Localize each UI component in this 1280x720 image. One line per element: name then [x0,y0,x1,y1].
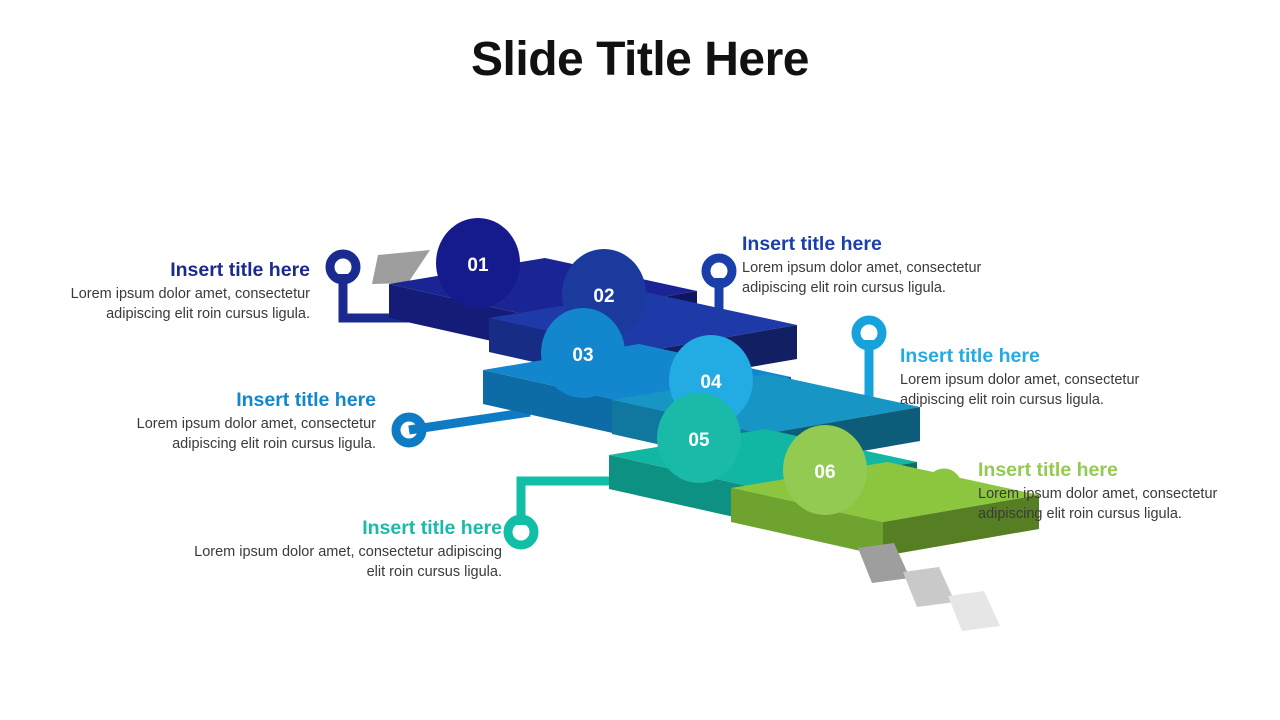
step-badge-6-label: 06 [814,462,835,483]
step-badge-1[interactable]: 01 [436,218,520,308]
callout-step-5-title: Insert title here [190,516,502,540]
callout-step-6-body: Lorem ipsum dolor amet, consectetur adip… [978,485,1278,524]
step-badge-3[interactable]: 03 [541,308,625,398]
callout-step-5-body: Lorem ipsum dolor amet, consectetur adip… [190,543,502,582]
callout-step-6: Insert title here Lorem ipsum dolor amet… [978,458,1278,525]
callout-step-4-title: Insert title here [900,344,1200,368]
step-badge-4-label: 04 [700,372,722,393]
step-badge-5[interactable]: 05 [657,393,741,483]
step-badge-6[interactable]: 06 [783,425,867,515]
callout-step-3-body: Lorem ipsum dolor amet, consectetur adip… [80,415,376,454]
callout-step-1: Insert title here Lorem ipsum dolor amet… [14,258,310,325]
callout-step-1-body: Lorem ipsum dolor amet, consectetur adip… [14,285,310,324]
callout-step-2-body: Lorem ipsum dolor amet, consectetur adip… [742,259,1042,298]
connector-line-3 [396,412,530,443]
lead-out-shadow-bottom [858,543,1000,631]
step-badge-2-label: 02 [593,286,614,307]
step-badge-1-label: 01 [467,255,489,276]
callout-step-5: Insert title here Lorem ipsum dolor amet… [190,516,502,583]
callout-step-4-body: Lorem ipsum dolor amet, consectetur adip… [900,371,1200,410]
callout-step-3: Insert title here Lorem ipsum dolor amet… [80,388,376,455]
step-badge-5-label: 05 [688,430,710,451]
callout-step-1-title: Insert title here [14,258,310,282]
connector-line-5 [508,481,620,545]
callout-step-3-title: Insert title here [80,388,376,412]
callout-step-2: Insert title here Lorem ipsum dolor amet… [742,232,1042,299]
callout-step-4: Insert title here Lorem ipsum dolor amet… [900,344,1200,411]
callout-step-6-title: Insert title here [978,458,1278,482]
callout-step-2-title: Insert title here [742,232,1042,256]
step-badge-3-label: 03 [572,345,593,366]
slide-canvas: Slide Title Here [0,0,1280,720]
